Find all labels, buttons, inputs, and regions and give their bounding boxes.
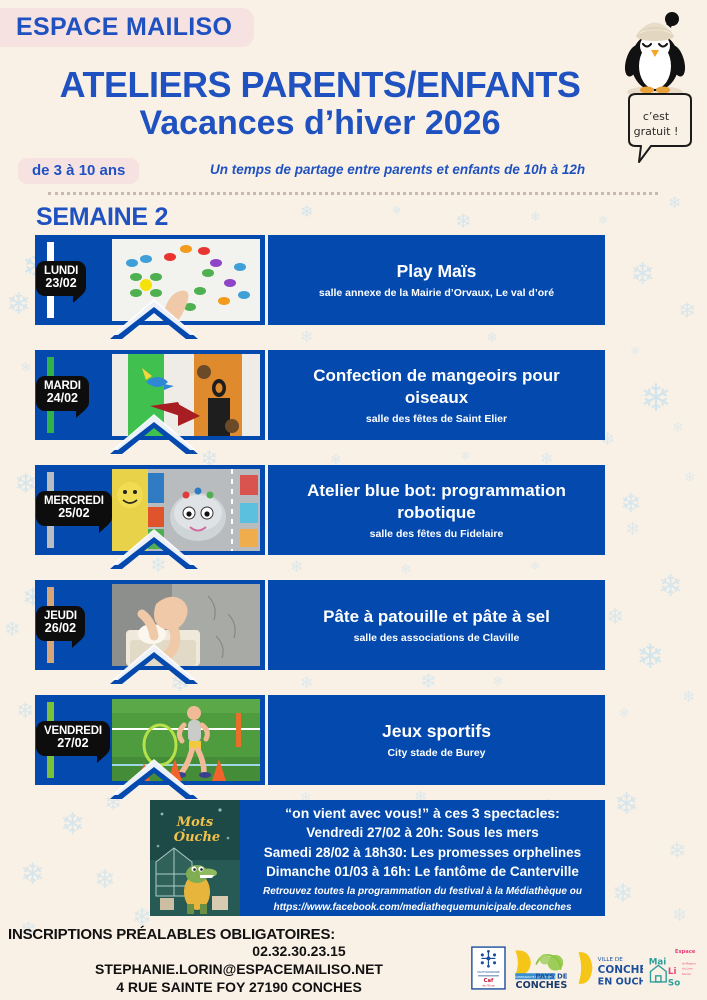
snowflake-icon: ❄	[94, 866, 116, 892]
day-text-panel: Atelier blue bot: programmation robotiqu…	[268, 465, 605, 555]
snowflake-icon: ❄	[20, 360, 32, 374]
spectacles-facebook-link[interactable]: https://www.facebook.com/mediathequemuni…	[248, 901, 597, 914]
day-badge: MARDI24/02	[36, 376, 89, 411]
snowflake-icon: ❄	[455, 212, 472, 232]
ville-de-conches-en-ouche-logo: VILLE DE CONCHES EN OUCHE	[575, 942, 643, 994]
day-activity-title: Play Maïs	[397, 260, 477, 283]
age-range-badge: de 3 à 10 ans	[18, 158, 139, 184]
snowflake-icon: ❄	[618, 706, 630, 720]
speech-bubble-icon: c’est gratuit !	[621, 92, 699, 168]
snowflake-icon: ❄	[640, 380, 672, 418]
spectacle-item-2: Samedi 28/02 à 18h30: Les promesses orph…	[248, 843, 597, 863]
spectacles-block: Mots Ouche	[150, 800, 605, 916]
spectacle-item-1: Vendredi 27/02 à 20h: Sous les mers	[248, 823, 597, 843]
snowflake-icon: ❄	[620, 490, 642, 516]
snowflake-icon: ❄	[630, 260, 655, 290]
snowflake-icon: ❄	[6, 290, 31, 320]
svg-text:de l’Eure: de l’Eure	[482, 983, 495, 987]
subtitle-text: Un temps de partage entre parents et enf…	[210, 162, 585, 177]
svg-text:CONCHES: CONCHES	[515, 980, 567, 991]
poster-root: ❄❄❄❄❄❄❄❄❄❄❄❄❄❄❄❄❄❄❄❄❄❄❄❄❄❄❄❄❄❄❄❄❄❄❄❄❄❄❄❄…	[0, 0, 707, 1000]
espace-mailiso-banner: ESPACE MAILISO	[0, 8, 254, 47]
day-date: 27/02	[44, 737, 102, 751]
chevron-down-icon	[108, 755, 200, 803]
snowflake-icon: ❄	[684, 470, 696, 484]
snowflake-icon: ❄	[606, 606, 624, 628]
week-heading: SEMAINE 2	[36, 203, 168, 232]
espace-mailiso-label: ESPACE MAILISO	[16, 13, 232, 41]
day-activity-title: Atelier blue bot: programmation robotiqu…	[280, 480, 593, 524]
svg-text:VILLE DE: VILLE DE	[598, 957, 624, 963]
day-venue: salle annexe de la Mairie d’Orvaux, Le v…	[319, 287, 554, 300]
page-title: ATELIERS PARENTS/ENFANTS Vacances d’hive…	[0, 66, 640, 143]
day-row: Jeux sportifsCity stade de BureyVENDREDI…	[35, 695, 605, 785]
snowflake-icon: ❄	[60, 810, 85, 840]
snowflake-icon: ❄	[400, 562, 412, 576]
day-venue: City stade de Burey	[387, 747, 485, 760]
snowflake-icon: ❄	[658, 572, 683, 602]
svg-text:CONCHES: CONCHES	[598, 964, 643, 976]
snowflake-icon: ❄	[625, 520, 640, 538]
chevron-down-icon	[108, 640, 200, 688]
chevron-down-icon	[108, 525, 200, 573]
snowflake-icon: ❄	[630, 345, 640, 357]
day-row: Confection de mangeoirs pour oiseauxsall…	[35, 350, 605, 440]
registration-footer: INSCRIPTIONS PRÉALABLES OBLIGATOIRES: 02…	[0, 926, 470, 997]
bubble-line-1: c’est	[643, 110, 669, 123]
partner-logos: HAUTE-NORMANDIE Caf de l’Eure COMMUNAUTÉ…	[471, 940, 701, 996]
caf-eure-logo: HAUTE-NORMANDIE Caf de l’Eure	[471, 942, 506, 994]
snowflake-icon: ❄	[668, 196, 681, 212]
day-text-panel: Jeux sportifsCity stade de Burey	[268, 695, 605, 785]
snowflake-icon: ❄	[20, 860, 45, 890]
snowflake-icon: ❄	[530, 210, 541, 223]
spectacles-text: “on vient avec vous!” à ces 3 spectacles…	[240, 800, 605, 916]
day-row: Atelier blue bot: programmation robotiqu…	[35, 465, 605, 555]
snowflake-icon: ❄	[300, 676, 313, 692]
spectacles-headline: “on vient avec vous!” à ces 3 spectacles…	[248, 803, 597, 823]
spectacle-item-3: Dimanche 01/03 à 16h: Le fantôme de Cant…	[248, 862, 597, 882]
snowflake-icon: ❄	[530, 560, 540, 572]
spectacles-note-line-1: Retrouvez toutes la programmation du fes…	[248, 885, 597, 898]
snowflake-icon: ❄	[300, 330, 313, 346]
day-date: 24/02	[44, 392, 81, 406]
dotted-divider	[48, 192, 658, 195]
snowflake-icon: ❄	[598, 214, 608, 226]
svg-text:Ouche: Ouche	[174, 830, 220, 845]
snowflake-icon: ❄	[492, 674, 504, 688]
day-text-panel: Play Maïssalle annexe de la Mairie d’Orv…	[268, 235, 605, 325]
snowflake-icon: ❄	[4, 620, 21, 640]
svg-text:Li: Li	[668, 967, 677, 977]
day-activity-title: Pâte à patouille et pâte à sel	[323, 606, 550, 628]
snowflake-icon: ❄	[290, 560, 303, 576]
day-badge: VENDREDI27/02	[36, 721, 110, 756]
age-range-label: de 3 à 10 ans	[32, 162, 125, 179]
chevron-down-icon	[108, 410, 200, 458]
snowflake-icon: ❄	[672, 906, 687, 924]
snowflake-icon: ❄	[636, 640, 665, 674]
day-activity-title: Confection de mangeoirs pour oiseaux	[280, 365, 593, 409]
pays-de-conches-logo: COMMUNAUTÉ DE COMMUNES PAYS DE CONCHES	[510, 942, 571, 994]
espace-mailiso-logo: Espace Mai Li So la Maison du Lien Socia…	[647, 942, 701, 994]
snowflake-icon: ❄	[614, 790, 639, 820]
svg-text:la Maison: la Maison	[682, 962, 696, 966]
title-line-2: Vacances d’hiver 2026	[0, 104, 640, 143]
day-row: Pâte à patouille et pâte à selsalle des …	[35, 580, 605, 670]
speech-bubble-text: c’est gratuit !	[621, 110, 691, 140]
day-date: 26/02	[44, 622, 77, 636]
day-badge: MERCREDI25/02	[36, 491, 112, 526]
day-date: 25/02	[44, 507, 104, 521]
svg-text:du Lien: du Lien	[682, 967, 693, 971]
snowflake-icon: ❄	[612, 880, 634, 906]
svg-text:Social: Social	[682, 972, 691, 976]
footer-phone[interactable]: 02.32.30.23.15	[8, 943, 470, 961]
day-badge: LUNDI23/02	[36, 261, 86, 296]
day-row: Play Maïssalle annexe de la Mairie d’Orv…	[35, 235, 605, 325]
snowflake-icon: ❄	[678, 300, 696, 322]
snowflake-icon: ❄	[420, 672, 437, 692]
day-date: 23/02	[44, 277, 78, 291]
title-line-1: ATELIERS PARENTS/ENFANTS	[0, 66, 640, 104]
chevron-down-icon	[108, 295, 200, 343]
day-venue: salle des fêtes de Saint Elier	[366, 413, 507, 426]
snowflake-icon: ❄	[330, 452, 342, 466]
snowflake-icon: ❄	[672, 420, 684, 434]
snowflake-icon: ❄	[300, 205, 313, 221]
day-venue: salle des associations de Claville	[354, 632, 520, 645]
snowflake-icon: ❄	[460, 450, 470, 462]
svg-text:HAUTE-NORMANDIE: HAUTE-NORMANDIE	[477, 971, 500, 974]
svg-text:So: So	[668, 978, 680, 988]
day-venue: salle des fêtes du Fidelaire	[370, 528, 504, 541]
footer-email[interactable]: STEPHANIE.LORIN@ESPACEMAILISO.NET	[8, 961, 470, 979]
day-text-panel: Confection de mangeoirs pour oiseauxsall…	[268, 350, 605, 440]
footer-inscriptions-label: INSCRIPTIONS PRÉALABLES OBLIGATOIRES:	[8, 926, 470, 943]
day-activity-title: Jeux sportifs	[382, 720, 491, 743]
svg-text:EN OUCHE: EN OUCHE	[598, 977, 643, 988]
snowflake-icon: ❄	[682, 690, 695, 706]
day-text-panel: Pâte à patouille et pâte à selsalle des …	[268, 580, 605, 670]
snowflake-icon: ❄	[486, 330, 498, 344]
svg-text:Espace: Espace	[675, 949, 696, 955]
penguin-icon	[609, 6, 701, 101]
les-mots-douche-poster: Mots Ouche	[150, 800, 240, 916]
snowflake-icon: ❄	[668, 840, 686, 862]
snowflake-icon: ❄	[392, 206, 401, 217]
snowflake-icon: ❄	[16, 700, 34, 722]
snowflake-icon: ❄	[14, 470, 37, 498]
svg-text:Mots: Mots	[176, 815, 214, 830]
day-badge: JEUDI26/02	[36, 606, 85, 641]
bubble-line-2: gratuit !	[634, 125, 679, 138]
footer-address: 4 RUE SAINTE FOY 27190 CONCHES	[8, 979, 470, 997]
